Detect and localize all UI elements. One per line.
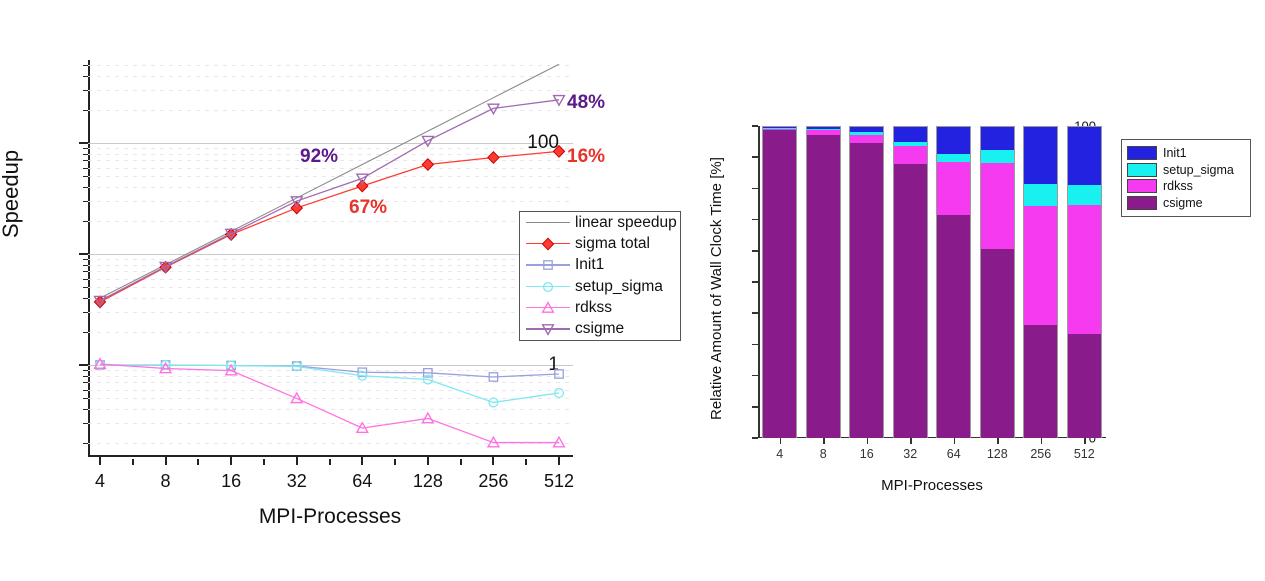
breakdown-x-tick xyxy=(1084,438,1086,444)
speedup-legend-label: sigma total xyxy=(575,235,650,253)
speedup-series-lines xyxy=(88,60,573,457)
speedup-legend-swatch xyxy=(526,216,570,230)
breakdown-legend-item: csigme xyxy=(1127,195,1245,210)
breakdown-segment-rdkss xyxy=(1067,205,1102,335)
speedup-annotation: 48% xyxy=(567,92,605,114)
speedup-legend-marker xyxy=(541,258,555,272)
breakdown-segment-setup-sigma xyxy=(762,128,797,129)
speedup-x-minor-tick xyxy=(329,459,331,465)
breakdown-bar xyxy=(1023,126,1058,438)
breakdown-segment-csigme xyxy=(849,143,884,438)
speedup-legend-label: setup_sigma xyxy=(575,278,663,296)
speedup-x-tick xyxy=(361,456,363,465)
speedup-x-minor-tick xyxy=(525,459,527,465)
speedup-marker xyxy=(422,159,433,171)
breakdown-segment-Init1 xyxy=(762,126,797,128)
breakdown-legend-item: Init1 xyxy=(1127,146,1245,161)
speedup-x-tick xyxy=(296,456,298,465)
speedup-annotation: 16% xyxy=(567,146,605,168)
speedup-legend-swatch xyxy=(526,258,570,272)
speedup-line-sigma-total xyxy=(100,151,559,302)
breakdown-plot-area: 0102030405060708090100 48163264128256512 xyxy=(758,126,1106,438)
speedup-legend-item: Init1 xyxy=(520,255,680,276)
breakdown-y-tick xyxy=(752,188,758,190)
speedup-x-tick-label: 32 xyxy=(287,471,307,492)
breakdown-segment-rdkss xyxy=(762,129,797,131)
speedup-x-tick-label: 4 xyxy=(95,471,105,492)
breakdown-segment-rdkss xyxy=(936,162,971,214)
breakdown-segment-setup-sigma xyxy=(936,154,971,162)
breakdown-segment-setup-sigma xyxy=(1023,184,1058,205)
breakdown-bar xyxy=(893,126,928,438)
speedup-y-tick xyxy=(79,253,88,255)
speedup-x-tick xyxy=(99,456,101,465)
breakdown-legend-item: setup_sigma xyxy=(1127,162,1245,177)
breakdown-segment-csigme xyxy=(893,164,928,438)
breakdown-legend-swatch xyxy=(1127,179,1157,193)
speedup-legend-item: sigma total xyxy=(520,233,680,254)
breakdown-segment-setup-sigma xyxy=(849,132,884,135)
breakdown-x-tick xyxy=(867,438,869,444)
breakdown-bar xyxy=(936,126,971,438)
breakdown-legend-swatch xyxy=(1127,163,1157,177)
speedup-chart: Speedup MPI-Processes 110100 48163264128… xyxy=(0,0,700,581)
speedup-x-minor-tick xyxy=(460,459,462,465)
breakdown-y-tick xyxy=(752,219,758,221)
breakdown-bar xyxy=(849,126,884,438)
breakdown-segment-setup-sigma xyxy=(1067,185,1102,204)
breakdown-bar xyxy=(806,126,841,438)
speedup-x-minor-tick xyxy=(263,459,265,465)
breakdown-x-tick xyxy=(1041,438,1043,444)
speedup-legend-marker xyxy=(541,237,555,251)
speedup-legend-label: linear speedup xyxy=(575,214,677,232)
speedup-x-tick-label: 64 xyxy=(352,471,372,492)
speedup-marker xyxy=(291,202,302,214)
speedup-x-tick xyxy=(230,456,232,465)
breakdown-segment-csigme xyxy=(980,249,1015,438)
breakdown-chart: Relative Amount of Wall Clock Time [%] M… xyxy=(700,0,1265,581)
breakdown-segment-Init1 xyxy=(1023,126,1058,184)
breakdown-x-tick-label: 16 xyxy=(860,447,874,461)
breakdown-segment-csigme xyxy=(806,135,841,438)
breakdown-y-tick xyxy=(752,344,758,346)
breakdown-bar xyxy=(1067,126,1102,438)
breakdown-x-tick-label: 8 xyxy=(820,447,827,461)
breakdown-segment-csigme xyxy=(762,130,797,438)
speedup-x-tick-label: 16 xyxy=(221,471,241,492)
breakdown-legend-label: csigme xyxy=(1163,196,1203,210)
breakdown-x-tick-label: 512 xyxy=(1074,447,1095,461)
breakdown-segment-csigme xyxy=(1067,334,1102,438)
speedup-x-tick xyxy=(492,456,494,465)
breakdown-segment-rdkss xyxy=(806,130,841,134)
breakdown-x-tick xyxy=(997,438,999,444)
speedup-legend-item: rdkss xyxy=(520,297,680,318)
breakdown-segment-setup-sigma xyxy=(980,150,1015,163)
speedup-legend-label: Init1 xyxy=(575,256,604,274)
speedup-legend-marker xyxy=(541,301,555,315)
speedup-legend-swatch xyxy=(526,280,570,294)
speedup-legend-item: setup_sigma xyxy=(520,276,680,297)
breakdown-y-tick xyxy=(752,156,758,158)
breakdown-bar xyxy=(762,126,797,438)
breakdown-segment-rdkss xyxy=(849,135,884,143)
speedup-y-tick xyxy=(79,142,88,144)
breakdown-y-tick xyxy=(752,312,758,314)
speedup-x-minor-tick xyxy=(132,459,134,465)
speedup-legend-swatch xyxy=(526,322,570,336)
breakdown-y-axis-title: Relative Amount of Wall Clock Time [%] xyxy=(708,157,725,420)
speedup-legend-marker xyxy=(541,322,555,336)
breakdown-x-tick xyxy=(780,438,782,444)
breakdown-segment-rdkss xyxy=(893,146,928,163)
speedup-y-axis-title: Speedup xyxy=(0,150,24,238)
breakdown-y-tick xyxy=(752,406,758,408)
breakdown-legend: Init1setup_sigmardksscsigme xyxy=(1121,139,1251,217)
breakdown-x-tick xyxy=(823,438,825,444)
speedup-legend-item: linear speedup xyxy=(520,212,680,233)
breakdown-legend-label: setup_sigma xyxy=(1163,163,1234,177)
speedup-legend-label: csigme xyxy=(575,320,624,338)
breakdown-x-tick-label: 32 xyxy=(903,447,917,461)
breakdown-legend-swatch xyxy=(1127,146,1157,160)
breakdown-segment-Init1 xyxy=(1067,126,1102,185)
speedup-legend: linear speedupsigma totalInit1setup_sigm… xyxy=(519,211,681,341)
speedup-legend-swatch xyxy=(526,301,570,315)
speedup-legend-marker xyxy=(541,280,555,294)
breakdown-segment-Init1 xyxy=(980,126,1015,150)
breakdown-y-tick xyxy=(752,125,758,127)
breakdown-segment-Init1 xyxy=(849,126,884,132)
speedup-x-tick-label: 256 xyxy=(478,471,508,492)
speedup-x-minor-tick xyxy=(197,459,199,465)
speedup-legend-label: rdkss xyxy=(575,299,612,317)
breakdown-x-tick-label: 128 xyxy=(987,447,1008,461)
breakdown-segment-csigme xyxy=(936,215,971,438)
breakdown-segment-rdkss xyxy=(980,163,1015,249)
breakdown-x-tick-label: 4 xyxy=(776,447,783,461)
breakdown-legend-item: rdkss xyxy=(1127,179,1245,194)
speedup-x-tick xyxy=(558,456,560,465)
speedup-marker xyxy=(488,152,499,164)
speedup-x-tick-label: 512 xyxy=(544,471,574,492)
breakdown-segment-setup-sigma xyxy=(893,142,928,146)
breakdown-x-axis-title: MPI-Processes xyxy=(881,477,983,494)
breakdown-y-tick xyxy=(752,375,758,377)
breakdown-y-axis-line xyxy=(758,126,760,438)
speedup-y-tick xyxy=(79,364,88,366)
breakdown-segment-Init1 xyxy=(936,126,971,154)
speedup-annotation: 92% xyxy=(300,146,338,168)
breakdown-y-tick xyxy=(752,250,758,252)
breakdown-legend-swatch xyxy=(1127,196,1157,210)
breakdown-segment-Init1 xyxy=(893,126,928,142)
speedup-marker xyxy=(357,180,368,192)
speedup-line-setup-sigma xyxy=(100,365,559,402)
breakdown-x-tick xyxy=(910,438,912,444)
breakdown-x-tick xyxy=(954,438,956,444)
breakdown-x-tick-label: 256 xyxy=(1030,447,1051,461)
speedup-annotation: 67% xyxy=(349,197,387,219)
speedup-x-tick-label: 8 xyxy=(161,471,171,492)
speedup-x-tick xyxy=(165,456,167,465)
breakdown-segment-setup-sigma xyxy=(806,129,841,131)
breakdown-segment-rdkss xyxy=(1023,206,1058,325)
speedup-x-tick-label: 128 xyxy=(413,471,443,492)
breakdown-legend-label: Init1 xyxy=(1163,146,1187,160)
speedup-plot-area: 110100 48163264128256512 xyxy=(88,60,573,457)
speedup-line-csigme xyxy=(100,100,559,301)
breakdown-segment-csigme xyxy=(1023,325,1058,438)
breakdown-y-tick xyxy=(752,281,758,283)
speedup-legend-swatch xyxy=(526,237,570,251)
breakdown-y-tick xyxy=(752,437,758,439)
speedup-legend-item: csigme xyxy=(520,318,680,339)
breakdown-x-tick-label: 64 xyxy=(947,447,961,461)
speedup-marker xyxy=(553,146,564,158)
breakdown-bar xyxy=(980,126,1015,438)
speedup-x-tick xyxy=(427,456,429,465)
speedup-x-minor-tick xyxy=(394,459,396,465)
speedup-line-rdkss xyxy=(100,364,559,443)
breakdown-segment-Init1 xyxy=(806,126,841,129)
speedup-x-axis-title: MPI-Processes xyxy=(259,505,401,529)
breakdown-legend-label: rdkss xyxy=(1163,179,1193,193)
